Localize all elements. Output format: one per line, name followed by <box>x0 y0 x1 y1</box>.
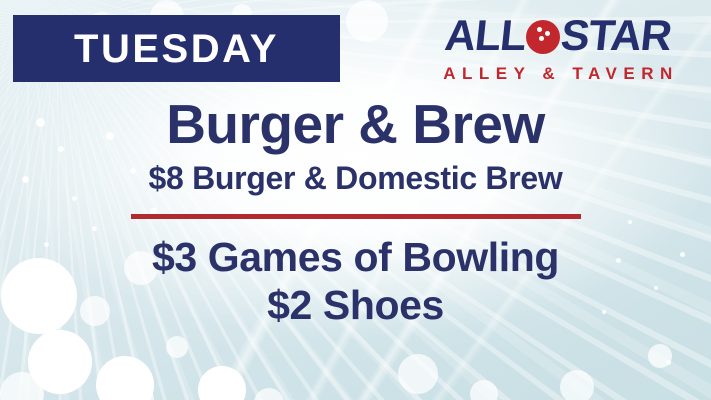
background-bubble <box>346 0 388 42</box>
background-bubble <box>118 382 154 400</box>
background-bubble <box>398 354 438 394</box>
bowling-ball-hole <box>537 27 542 32</box>
logo-tagline: ALLEY & TAVERN <box>427 65 689 82</box>
promo-subline: $8 Burger & Domestic Brew <box>0 162 711 196</box>
background-bubble <box>560 370 594 400</box>
bowling-ball-hole <box>539 36 544 41</box>
promo-headline: Burger & Brew <box>0 96 711 152</box>
logo-wordmark: ALL STAR <box>427 14 689 59</box>
background-bubble <box>96 356 154 400</box>
red-divider-rule <box>131 214 581 219</box>
background-bubble <box>254 388 284 400</box>
background-bubble <box>0 372 44 400</box>
background-bubble <box>198 366 246 400</box>
logo-word-right: STAR <box>559 15 673 58</box>
promo-graphic: TUESDAY ALL STAR ALLEY & TAVERN Burger &… <box>0 0 711 400</box>
bowling-ball-icon <box>526 20 560 54</box>
background-bubble <box>28 330 92 394</box>
promo-offer-shoes: $2 Shoes <box>0 281 711 329</box>
background-dot <box>666 360 671 365</box>
background-bubble <box>470 380 498 400</box>
promo-offer-bowling: $3 Games of Bowling <box>0 233 711 281</box>
day-label: TUESDAY <box>74 29 279 69</box>
bowling-ball-hole <box>545 31 550 36</box>
background-bubble <box>166 336 188 358</box>
promo-copy: Burger & Brew $8 Burger & Domestic Brew … <box>0 96 711 329</box>
day-banner: TUESDAY <box>13 15 340 82</box>
background-bubble <box>648 344 672 368</box>
brand-logo: ALL STAR ALLEY & TAVERN <box>427 14 689 82</box>
logo-word-left: ALL <box>443 15 528 58</box>
